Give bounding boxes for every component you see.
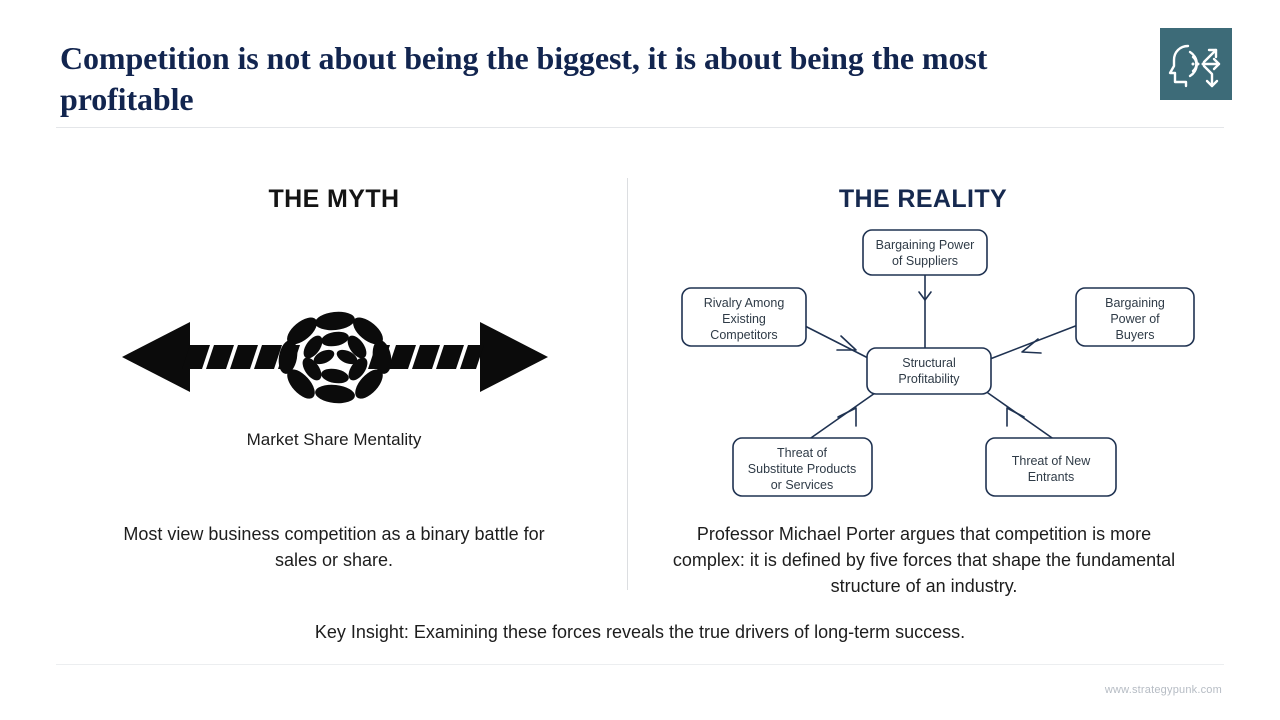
force-box-threat-of-substitute-products-or-services: Threat of Substitute Products or Service… [733,438,872,496]
force-label-buyers-line2: Power of [1110,312,1160,326]
reality-heading: THE REALITY [723,185,1123,214]
force-box-bargaining-power-of-buyers: Bargaining Power of Buyers [1076,288,1194,346]
myth-caption: Market Share Mentality [134,430,534,450]
force-box-bargaining-power-of-suppliers: Bargaining Power of Suppliers [863,230,987,275]
force-label-buyers-line3: Buyers [1116,328,1155,342]
force-label-rivalry-line3: Competitors [710,328,777,342]
porter-five-forces-diagram: Bargaining Power of Suppliers Rivalry Am… [660,228,1220,503]
key-insight-text: Key Insight: Examining these forces reve… [140,622,1140,643]
force-label-substitutes-line2: Substitute Products [748,462,856,476]
myth-body-text: Most view business competition as a bina… [104,521,564,573]
force-box-rivalry-among-existing-competitors: Rivalry Among Existing Competitors [682,288,806,346]
force-label-substitutes-line3: or Services [771,478,834,492]
myth-heading: THE MYTH [134,185,534,214]
force-label-suppliers-line1: Bargaining Power [876,238,975,252]
force-box-structural-profitability: Structural Profitability [867,348,991,394]
connector-rivalry [803,325,870,359]
column-divider [627,178,628,590]
force-box-threat-of-new-entrants: Threat of New Entrants [986,438,1116,496]
force-label-new-entrants-line1: Threat of New [1012,454,1091,468]
force-label-suppliers-line2: of Suppliers [892,254,958,268]
reality-body-text: Professor Michael Porter argues that com… [668,521,1180,599]
force-label-rivalry-line2: Existing [722,312,766,326]
footer-divider [56,664,1224,665]
force-label-centre-line2: Profitability [898,372,960,386]
force-label-buyers-line1: Bargaining [1105,296,1165,310]
footer-website-url: www.strategypunk.com [1105,684,1222,696]
page-title: Competition is not about being the bigge… [60,38,1020,120]
force-label-new-entrants-line2: Entrants [1028,470,1075,484]
force-label-rivalry-line1: Rivalry Among [704,296,785,310]
force-label-centre-line1: Structural [902,356,956,370]
force-label-substitutes-line1: Threat of [777,446,828,460]
connector-substitutes [808,393,875,440]
strategy-head-arrows-logo [1160,28,1232,100]
header-divider [56,127,1224,128]
rope-knot-double-arrow [118,305,552,410]
